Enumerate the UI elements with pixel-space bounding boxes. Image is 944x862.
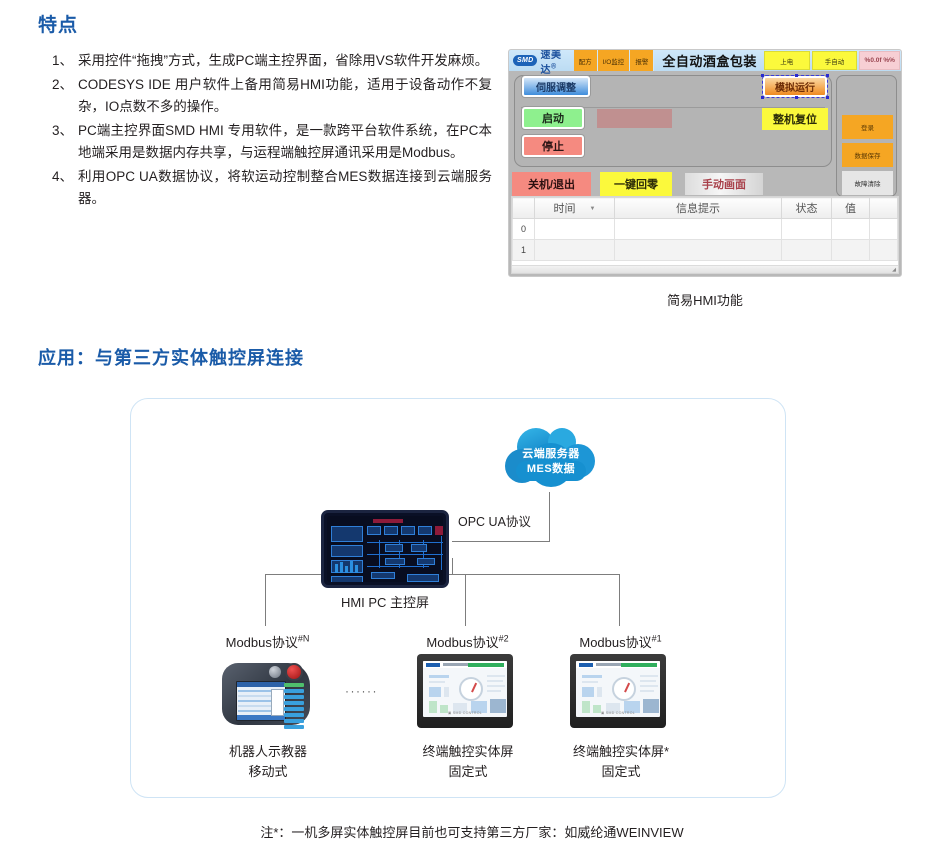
hmi-pc-monitor-icon: [321, 510, 449, 588]
manual-screen-button[interactable]: 手动画面: [685, 173, 763, 195]
smd-logo: SMD 速美达®: [509, 50, 574, 71]
menu-item-io-monitor[interactable]: I/O监控: [598, 50, 631, 71]
column-header-message[interactable]: 信息提示: [615, 198, 782, 219]
pc-screen: [327, 516, 443, 582]
ellipsis-separator: ······: [345, 684, 378, 698]
table-header-row: 时间▼ 信息提示 状态 值: [513, 198, 898, 219]
list-item: 1、 采用控件“拖拽”方式，生成PC端主控界面，省除用VS软件开发麻烦。: [52, 50, 492, 73]
selection-handle[interactable]: [761, 96, 764, 99]
list-item-number: 3、: [52, 120, 73, 143]
connector-cloud-to-pc-horizontal: [452, 541, 550, 542]
emergency-stop-button-icon: [285, 663, 303, 681]
pendant-mode-knob-icon: [269, 666, 281, 678]
one-key-zero-button[interactable]: 一键回零: [600, 172, 672, 196]
connector-cloud-to-pc-vertical: [549, 492, 550, 542]
hmi-pc-label: HMI PC 主控屏: [321, 592, 449, 611]
selection-handle[interactable]: [761, 74, 764, 77]
menu-item-recipe[interactable]: 配方: [574, 50, 598, 71]
list-item: 2、 CODESYS IDE 用户软件上备用简易HMI功能，适用于设备动作不复杂…: [52, 74, 492, 119]
status-auto-manual[interactable]: 手自动: [812, 51, 858, 70]
cell-message: [615, 219, 782, 240]
list-item-text: 采用控件“拖拽”方式，生成PC端主控界面，省除用VS软件开发麻烦。: [78, 53, 488, 68]
cloud-label-line2: MES数据: [496, 462, 606, 477]
pendant-body: [222, 663, 310, 725]
cell-time: [535, 240, 615, 261]
list-item-text: 利用OPC UA数据协议，将软运动控制整合MES数据连接到云端服务器。: [78, 169, 492, 207]
cell-time: [535, 219, 615, 240]
cell-filler: [870, 219, 898, 240]
diagram-card: [130, 398, 786, 798]
figure-caption: 简易HMI功能: [503, 290, 907, 309]
cloud-label-line1: 云端服务器: [496, 447, 606, 462]
list-item-number: 1、: [52, 50, 73, 73]
cell-value: [832, 240, 870, 261]
pendant-keypad: [284, 683, 304, 731]
cell-state: [782, 240, 832, 261]
shutdown-exit-button[interactable]: 关机/退出: [512, 172, 591, 196]
feature-list: 1、 采用控件“拖拽”方式，生成PC端主控界面，省除用VS软件开发麻烦。 2、 …: [52, 50, 492, 212]
touch-panel-screen: ▣ SMD CONTROL: [423, 661, 507, 717]
list-item-number: 2、: [52, 74, 73, 97]
stop-button[interactable]: 停止: [522, 135, 584, 157]
hmi-window: SMD 速美达® 配方 I/O监控 报警 全自动酒盒包装 上电 手自动 %0.0…: [508, 49, 902, 277]
machine-reset-button[interactable]: 整机复位: [762, 108, 828, 130]
smd-badge-icon: SMD: [513, 55, 537, 66]
menu-item-alarm[interactable]: 报警: [630, 50, 654, 71]
page-title-features: 特点: [38, 10, 78, 37]
page-title-application: 应用：与第三方实体触控屏连接: [38, 344, 304, 370]
list-item-number: 4、: [52, 166, 73, 189]
selection-handle[interactable]: [795, 74, 798, 77]
status-power[interactable]: 上电: [764, 51, 810, 70]
selection-handle[interactable]: [826, 74, 829, 77]
cloud-server-icon: 云端服务器 MES数据: [496, 425, 606, 495]
cell-value: [832, 219, 870, 240]
hmi-touch-panel-icon: ▣ SMD CONTROL: [417, 654, 513, 728]
table-row[interactable]: 0: [513, 219, 898, 240]
page-root: 特点 1、 采用控件“拖拽”方式，生成PC端主控界面，省除用VS软件开发麻烦。 …: [0, 0, 944, 862]
panel-brand-logo: ▣ SMD CONTROL: [576, 711, 660, 715]
column-header-index: [513, 198, 535, 219]
hmi-document-title: 全自动酒盒包装: [654, 50, 763, 71]
list-item-text: PC端主控界面SMD HMI 专用软件，是一款跨平台软件系统，在PC本地端采用是…: [78, 123, 492, 161]
selection-handle[interactable]: [795, 96, 798, 99]
protocol-label-node-2: Modbus协议#2: [400, 632, 535, 651]
status-value-readout: %0.0f %%: [859, 51, 900, 70]
touch-panel-screen: ▣ SMD CONTROL: [576, 661, 660, 717]
hmi-titlebar: SMD 速美达® 配方 I/O监控 报警 全自动酒盒包装 上电 手自动 %0.0…: [509, 50, 901, 71]
list-item: 3、 PC端主控界面SMD HMI 专用软件，是一款跨平台软件系统，在PC本地端…: [52, 120, 492, 165]
hmi-sidebar: 登录 数据保存 故障清除: [836, 75, 897, 197]
pendant-led-row: [240, 673, 266, 676]
gauge-icon: [612, 677, 636, 701]
simulate-run-button[interactable]: 模拟运行: [763, 76, 827, 97]
table-row[interactable]: 1: [513, 240, 898, 261]
data-save-button[interactable]: 数据保存: [842, 143, 893, 167]
cloud-label: 云端服务器 MES数据: [496, 447, 606, 477]
fault-clear-button[interactable]: 故障清除: [842, 171, 893, 195]
connector-branch-1: [619, 574, 620, 626]
resize-grip-icon[interactable]: ◢: [892, 267, 896, 273]
column-header-filler: [870, 198, 898, 219]
selection-handle[interactable]: [826, 96, 829, 99]
cell-index: 0: [513, 219, 535, 240]
device-label-node-n: 机器人示教器 移动式: [198, 742, 338, 782]
protocol-label-node-1: Modbus协议#1: [553, 632, 688, 651]
connector-branch-n: [265, 574, 266, 626]
cell-state: [782, 219, 832, 240]
sort-caret-icon[interactable]: ▼: [590, 206, 596, 212]
cell-message: [615, 240, 782, 261]
opc-ua-protocol-label: OPC UA协议: [458, 511, 531, 530]
hmi-touch-panel-icon: ▣ SMD CONTROL: [570, 654, 666, 728]
cell-index: 1: [513, 240, 535, 261]
hmi-screenshot-figure: SMD 速美达® 配方 I/O监控 报警 全自动酒盒包装 上电 手自动 %0.0…: [503, 45, 907, 282]
device-label-node-2: 终端触控实体屏 固定式: [398, 742, 538, 782]
hmi-menu: 配方 I/O监控 报警: [574, 50, 655, 71]
gauge-icon: [459, 677, 483, 701]
simulate-run-label: 模拟运行: [775, 79, 815, 94]
horizontal-scrollbar[interactable]: ◢: [512, 265, 898, 273]
status-indicator-bar: [597, 109, 672, 128]
servo-adjust-button[interactable]: 伺服调整: [522, 76, 590, 97]
panel-brand-logo: ▣ SMD CONTROL: [423, 711, 507, 715]
alarm-log-table: 时间▼ 信息提示 状态 值 0: [511, 196, 899, 274]
hmi-control-area: 伺服调整 模拟运行 启动 停止 整机复位 关机/退出 一键回零 手动画面: [509, 71, 901, 187]
start-button[interactable]: 启动: [522, 107, 584, 129]
column-header-time[interactable]: 时间▼: [535, 198, 615, 219]
protocol-label-node-n: Modbus协议#N: [200, 632, 335, 651]
login-button[interactable]: 登录: [842, 115, 893, 139]
list-item-text: CODESYS IDE 用户软件上备用简易HMI功能，适用于设备动作不复杂，IO…: [78, 77, 492, 115]
column-header-value[interactable]: 值: [832, 198, 870, 219]
pendant-screen: [236, 681, 286, 721]
robot-teach-pendant-icon: [218, 655, 319, 729]
device-label-node-1: 终端触控实体屏* 固定式: [551, 742, 691, 782]
connector-branch-2: [465, 574, 466, 626]
column-header-state[interactable]: 状态: [782, 198, 832, 219]
cell-filler: [870, 240, 898, 261]
connector-pc-drop: [452, 558, 453, 575]
footnote: 注*：一机多屏实体触控屏目前也可支持第三方厂家：如威纶通WEINVIEW: [0, 822, 944, 841]
list-item: 4、 利用OPC UA数据协议，将软运动控制整合MES数据连接到云端服务器。: [52, 166, 492, 211]
